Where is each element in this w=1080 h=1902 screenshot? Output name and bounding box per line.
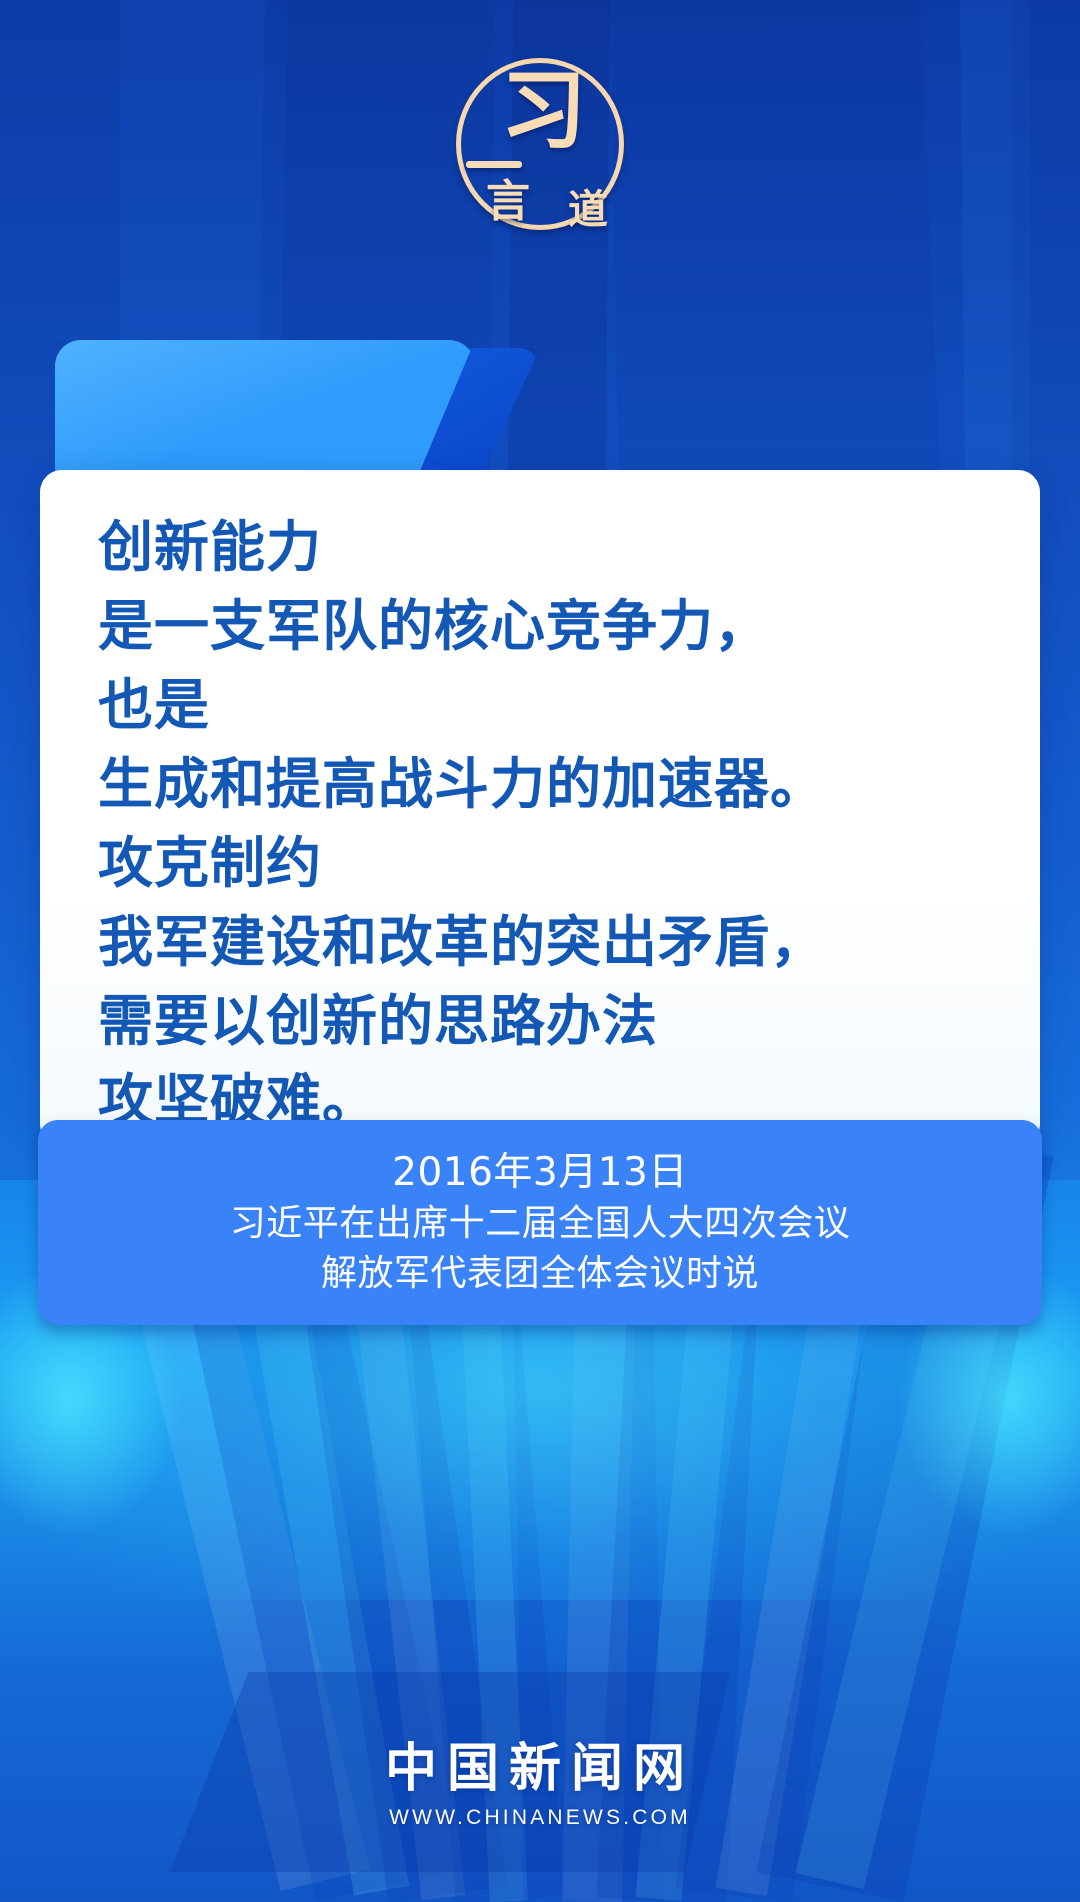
folder-tab-front-shape <box>55 340 475 480</box>
seal-char-dao: 道 <box>568 190 608 230</box>
quote-line: 也是 <box>98 666 1000 745</box>
quote-line: 需要以创新的思路办法 <box>98 982 1000 1061</box>
caption-line-2: 习近平在出席十二届全国人大四次会议 <box>230 1199 851 1249</box>
caption-date: 2016年3月13日 <box>392 1147 688 1199</box>
seal-stroke-icon <box>466 161 522 168</box>
brand-url: WWW.CHINANEWS.COM <box>0 1806 1080 1830</box>
quote-line: 是一支军队的核心竞争力， <box>98 587 1000 666</box>
quote-line: 创新能力 <box>98 508 1000 587</box>
footer-brand: 中国新闻网 WWW.CHINANEWS.COM <box>0 1738 1080 1830</box>
quote-line: 生成和提高战斗力的加速器。 <box>98 745 1000 824</box>
quote-line: 攻克制约 <box>98 824 1000 903</box>
poster-root: 习 言 道 创新能力是一支军队的核心竞争力，也是生成和提高战斗力的加速器。攻克制… <box>0 0 1080 1902</box>
seal-char-xi: 习 <box>500 68 586 154</box>
seal-char-yan: 言 <box>486 180 530 224</box>
quote-line: 我军建设和改革的突出矛盾， <box>98 903 1000 982</box>
caption-box: 2016年3月13日 习近平在出席十二届全国人大四次会议 解放军代表团全体会议时… <box>38 1120 1042 1325</box>
xiyandao-seal-logo: 习 言 道 <box>456 58 624 230</box>
quote-card: 创新能力是一支军队的核心竞争力，也是生成和提高战斗力的加速器。攻克制约我军建设和… <box>40 470 1040 1146</box>
brand-name-cn: 中国新闻网 <box>0 1738 1080 1800</box>
quote-text: 创新能力是一支军队的核心竞争力，也是生成和提高战斗力的加速器。攻克制约我军建设和… <box>98 508 1000 1140</box>
caption-line-3: 解放军代表团全体会议时说 <box>321 1249 759 1299</box>
